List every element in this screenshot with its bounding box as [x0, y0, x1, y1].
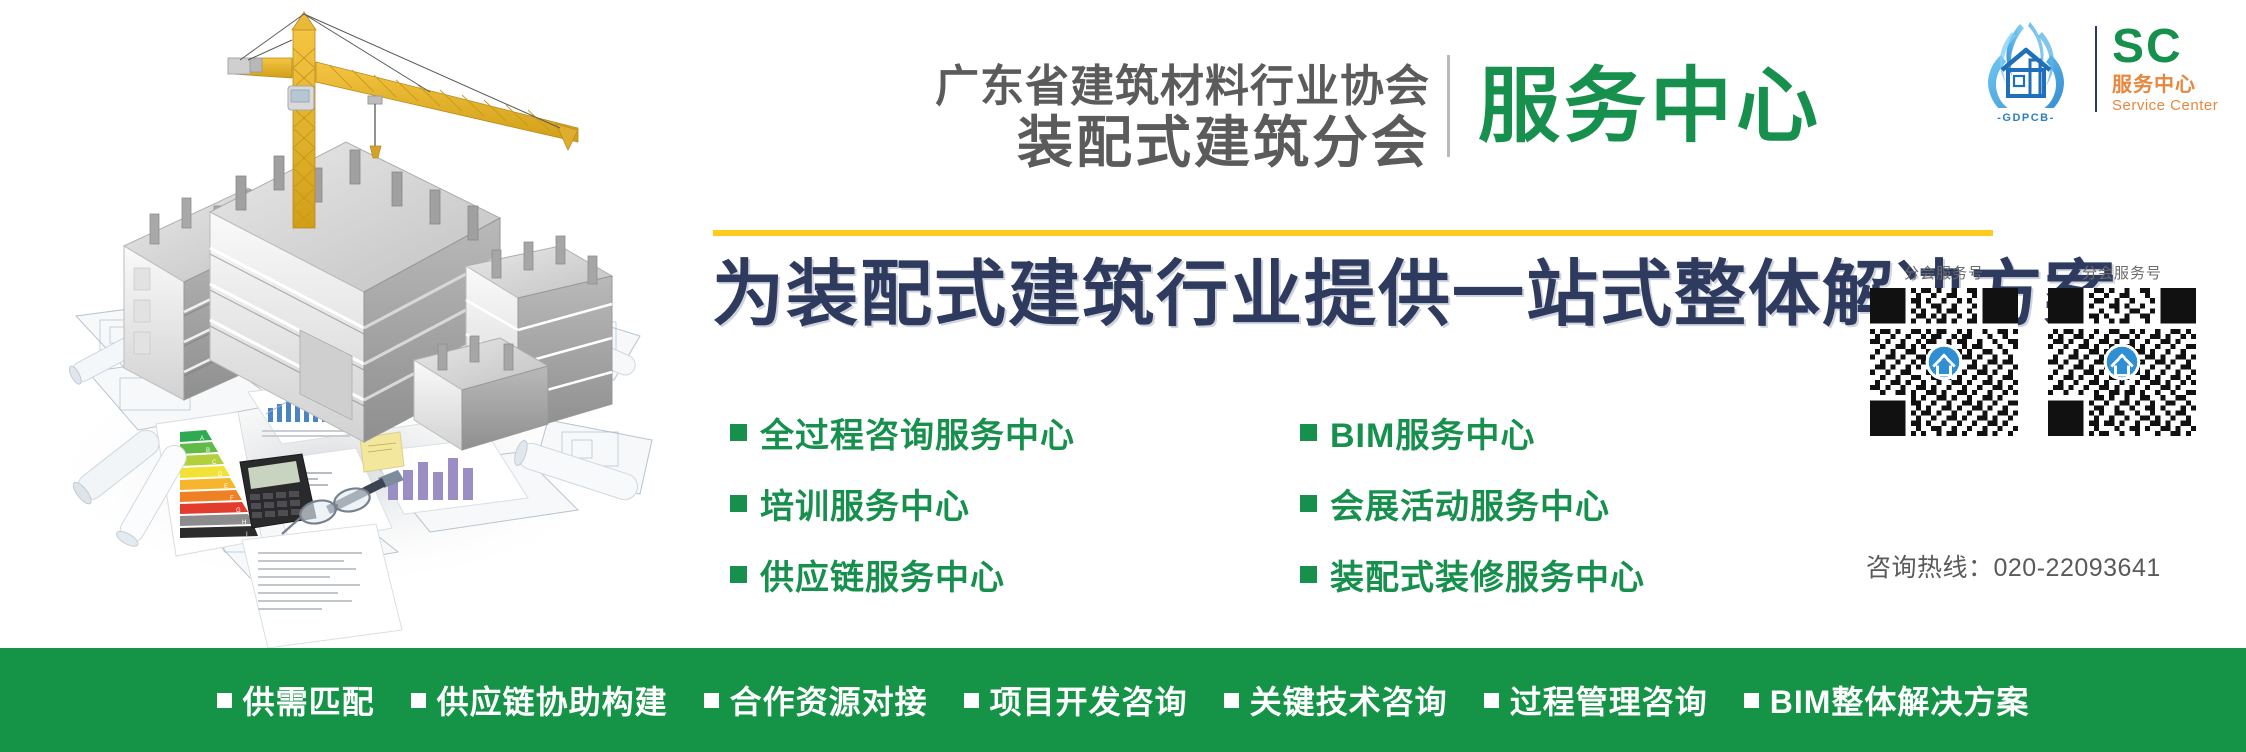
sc-mark-text: SC [2112, 23, 2218, 71]
service-list-item[interactable]: BIM服务中心 [1300, 407, 1645, 457]
service-label: 装配式装修服务中心 [1330, 550, 1645, 599]
footer-item-label: 项目开发咨询 [990, 677, 1188, 723]
svg-text:A: A [200, 436, 204, 442]
title-vertical-divider [1447, 55, 1450, 157]
house-flame-circle-logo-icon: -GDPCB- [1972, 16, 2080, 122]
logo-cluster: -GDPCB- SC 服务中心 Service Center [1972, 14, 2232, 124]
association-name-line1: 广东省建筑材料行业协会 [830, 62, 1430, 112]
footer-item[interactable]: BIM整体解决方案 [1744, 677, 2030, 723]
square-bullet-icon [1484, 693, 1499, 708]
yellow-divider-rule [713, 230, 1993, 236]
footer-item[interactable]: 过程管理咨询 [1484, 677, 1708, 723]
square-bullet-icon [704, 693, 719, 708]
svg-text:G: G [236, 508, 241, 514]
sc-english-label: Service Center [2112, 97, 2218, 115]
footer-item[interactable]: 供应链协助构建 [411, 677, 668, 723]
square-bullet-icon [1224, 693, 1239, 708]
service-list-item[interactable]: 装配式装修服务中心 [1300, 549, 1645, 599]
service-label: 培训服务中心 [760, 479, 970, 528]
qr-code-cell: 分会服务号 [2048, 262, 2196, 436]
footer-item-label: BIM整体解决方案 [1770, 677, 2030, 723]
footer-item-label: 合作资源对接 [730, 677, 928, 723]
service-label: 全过程咨询服务中心 [760, 408, 1075, 457]
footer-item[interactable]: 项目开发咨询 [964, 677, 1188, 723]
promotional-banner: ABC DEF GHI [0, 0, 2246, 752]
hotline-text: 咨询热线：020-22093641 [1866, 548, 2161, 584]
logo-separator [2095, 26, 2097, 112]
square-bullet-icon [730, 424, 747, 441]
square-bullet-icon [730, 566, 747, 583]
footer-item-label: 供应链协助构建 [437, 677, 668, 723]
square-bullet-icon [1300, 495, 1317, 512]
footer-item[interactable]: 合作资源对接 [704, 677, 928, 723]
qr-code-block: 分会服务号 [1870, 262, 2230, 436]
footer-item-label: 过程管理咨询 [1510, 677, 1708, 723]
sc-service-center-logo: SC 服务中心 Service Center [2112, 23, 2218, 115]
svg-text:D: D [218, 472, 223, 478]
square-bullet-icon [730, 495, 747, 512]
square-bullet-icon [964, 693, 979, 708]
footer-capability-bar: 供需匹配 供应链协助构建 合作资源对接 项目开发咨询 关键技术咨询 过程管理咨询 [0, 648, 2246, 752]
svg-text:C: C [212, 460, 217, 466]
service-label: 供应链服务中心 [760, 550, 1005, 599]
svg-text:B: B [206, 448, 210, 454]
service-list-right-column: BIM服务中心 会展活动服务中心 装配式装修服务中心 [1300, 407, 1645, 620]
footer-item-label: 供需匹配 [243, 677, 375, 723]
service-label: BIM服务中心 [1330, 408, 1535, 457]
qr-caption: 分会服务号 [2048, 262, 2196, 283]
footer-item[interactable]: 供需匹配 [217, 677, 375, 723]
square-bullet-icon [1744, 693, 1759, 708]
service-list-item[interactable]: 培训服务中心 [730, 478, 1075, 528]
service-label: 会展活动服务中心 [1330, 479, 1610, 528]
svg-text:H: H [242, 520, 246, 526]
sc-chinese-label: 服务中心 [2112, 73, 2218, 97]
service-list-left-column: 全过程咨询服务中心 培训服务中心 供应链服务中心 [730, 407, 1075, 620]
square-bullet-icon [411, 693, 426, 708]
association-branch-line2: 装配式建筑分会 [830, 113, 1430, 173]
service-list-item[interactable]: 供应链服务中心 [730, 549, 1075, 599]
svg-text:E: E [224, 484, 228, 490]
gdpcb-caption: -GDPCB- [1972, 112, 2080, 124]
service-center-heading: 服务中心 [1478, 60, 1822, 154]
service-list-item[interactable]: 全过程咨询服务中心 [730, 407, 1075, 457]
footer-item-label: 关键技术咨询 [1250, 677, 1448, 723]
square-bullet-icon [1300, 566, 1317, 583]
square-bullet-icon [217, 693, 232, 708]
qr-caption: 分会服务号 [1870, 262, 2018, 283]
footer-item[interactable]: 关键技术咨询 [1224, 677, 1448, 723]
svg-text:F: F [230, 496, 234, 502]
service-list-item[interactable]: 会展活动服务中心 [1300, 478, 1645, 528]
construction-site-3d-photo: ABC DEF GHI [0, 0, 660, 648]
qr-code-icon[interactable] [1870, 288, 2018, 436]
qr-code-icon[interactable] [2048, 288, 2196, 436]
qr-code-cell: 分会服务号 [1870, 262, 2018, 436]
association-title: 广东省建筑材料行业协会 装配式建筑分会 [830, 62, 1430, 173]
square-bullet-icon [1300, 424, 1317, 441]
